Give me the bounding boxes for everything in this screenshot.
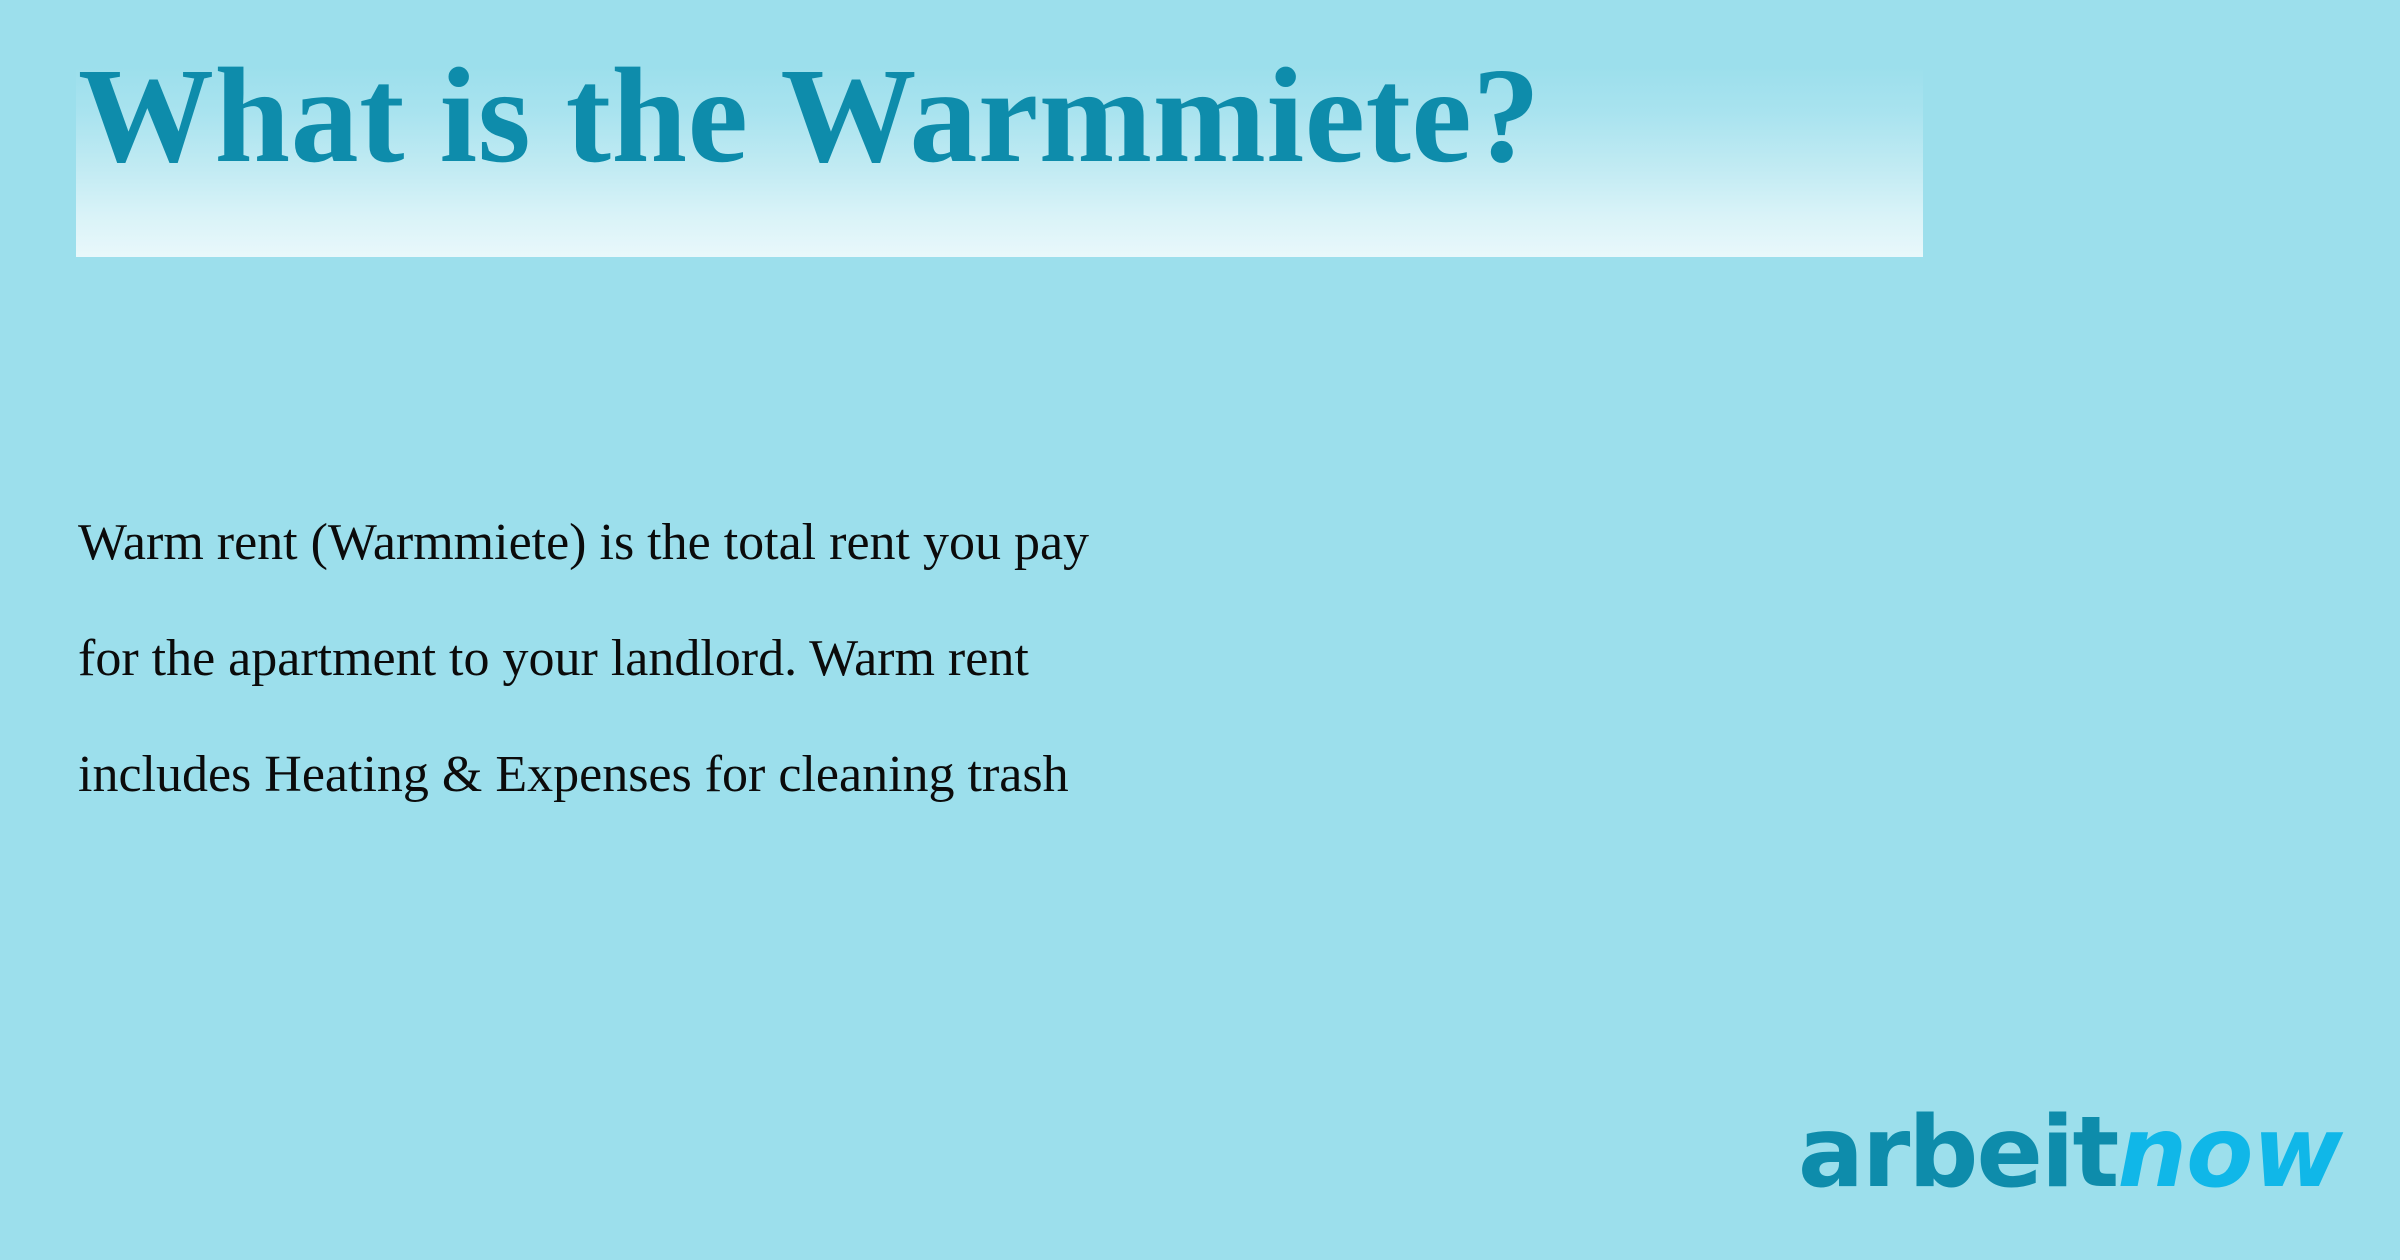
body-line-1: Warm rent (Warmmiete) is the total rent … xyxy=(78,505,1478,581)
body-line-2: for the apartment to your landlord. Warm… xyxy=(78,621,1478,697)
body-line-3: includes Heating & Expenses for cleaning… xyxy=(78,737,1478,813)
slide-canvas: What is the Warmmiete? Warm rent (Warmmi… xyxy=(0,0,2400,1260)
logo-word-now: now xyxy=(2117,1104,2342,1202)
arbeitnow-logo: arbeitnow xyxy=(1798,1104,2342,1202)
logo-word-arbeit: arbeit xyxy=(1798,1104,2118,1202)
body-copy: Warm rent (Warmmiete) is the total rent … xyxy=(78,505,1478,813)
page-title: What is the Warmmiete? xyxy=(78,48,1928,184)
